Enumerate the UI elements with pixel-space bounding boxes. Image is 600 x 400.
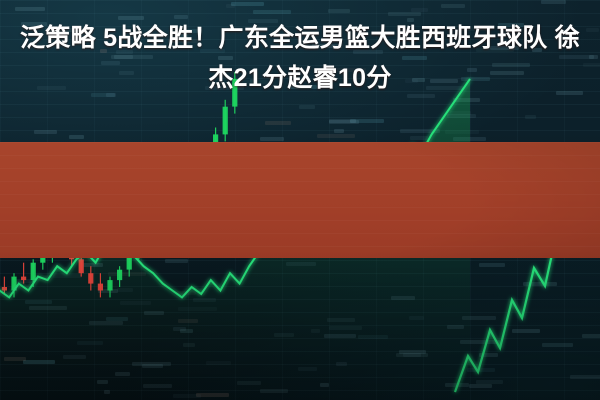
thumbnail-image: 泛策略 5战全胜！广东全运男篮大胜西班牙球队 徐 杰21分赵睿10分 [0, 0, 600, 400]
headline-band [0, 142, 600, 258]
band-vignette [0, 142, 600, 258]
headline-line-1: 泛策略 5战全胜！广东全运男篮大胜西班牙球队 徐 [20, 18, 580, 58]
headline-text: 泛策略 5战全胜！广东全运男篮大胜西班牙球队 徐 杰21分赵睿10分 [0, 0, 600, 116]
headline-line-2: 杰21分赵睿10分 [208, 58, 391, 98]
